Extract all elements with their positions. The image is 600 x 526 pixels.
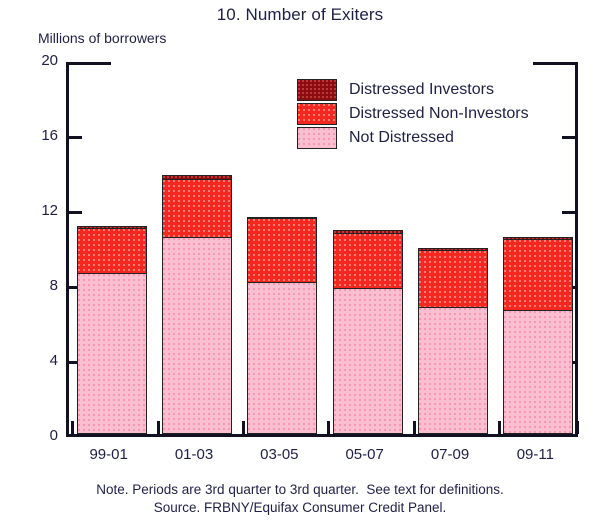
bar-column bbox=[503, 237, 573, 434]
chart-title: 10. Number of Exiters bbox=[0, 5, 600, 25]
x-axis-tick bbox=[576, 421, 579, 434]
footnote-note: Note. Periods are 3rd quarter to 3rd qua… bbox=[0, 481, 600, 499]
x-axis-tick bbox=[71, 421, 74, 434]
bar-segment bbox=[77, 273, 147, 434]
x-axis-tick-label: 09-11 bbox=[495, 446, 575, 463]
x-axis-tick bbox=[157, 421, 160, 434]
legend-item-distressed-investors: Distressed Investors bbox=[297, 78, 529, 102]
x-axis-tick bbox=[498, 421, 501, 434]
bar-segment bbox=[247, 218, 317, 282]
x-axis-tick-label: 07-09 bbox=[410, 446, 490, 463]
bar-segment bbox=[247, 282, 317, 434]
bar-column bbox=[77, 226, 147, 434]
y-axis-tick-label: 4 bbox=[6, 352, 58, 369]
legend-swatch-distressed-non-investors bbox=[297, 103, 337, 125]
x-axis-tick-label: 99-01 bbox=[69, 446, 149, 463]
x-axis-tick-label: 01-03 bbox=[154, 446, 234, 463]
legend-label-not-distressed: Not Distressed bbox=[349, 129, 454, 147]
bar-segment bbox=[503, 310, 573, 434]
x-axis-tick-label: 05-07 bbox=[325, 446, 405, 463]
bar-column bbox=[162, 175, 232, 434]
y-axis-tick-label: 0 bbox=[6, 427, 58, 444]
bar-segment bbox=[162, 237, 232, 434]
bar-segment bbox=[418, 307, 488, 435]
y-axis-tick-label: 8 bbox=[6, 277, 58, 294]
x-axis-tick bbox=[413, 421, 416, 434]
legend-label-distressed-investors: Distressed Investors bbox=[349, 81, 494, 99]
bar-column bbox=[333, 230, 403, 434]
legend-swatch-not-distressed bbox=[297, 127, 337, 149]
legend-label-distressed-non-investors: Distressed Non-Investors bbox=[349, 105, 529, 123]
x-axis-tick bbox=[242, 421, 245, 434]
chart-footnotes: Note. Periods are 3rd quarter to 3rd qua… bbox=[0, 481, 600, 517]
footnote-source: Source. FRBNY/Equifax Consumer Credit Pa… bbox=[0, 499, 600, 517]
bar-segment bbox=[333, 233, 403, 287]
y-axis-tick-label: 16 bbox=[6, 127, 58, 144]
bar-segment bbox=[77, 228, 147, 273]
x-axis-tick bbox=[327, 421, 330, 434]
chart-legend: Distressed Investors Distressed Non-Inve… bbox=[297, 78, 529, 150]
legend-item-not-distressed: Not Distressed bbox=[297, 126, 529, 150]
y-axis-unit-label: Millions of borrowers bbox=[38, 30, 166, 46]
y-axis-tick-label: 20 bbox=[6, 52, 58, 69]
legend-item-distressed-non-investors: Distressed Non-Investors bbox=[297, 102, 529, 126]
bar-segment bbox=[162, 179, 232, 237]
bar-column bbox=[247, 217, 317, 435]
bar-segment bbox=[503, 239, 573, 310]
y-axis-tick-label: 12 bbox=[6, 202, 58, 219]
bar-column bbox=[418, 248, 488, 434]
legend-swatch-distressed-investors bbox=[297, 79, 337, 101]
bar-segment bbox=[333, 288, 403, 434]
bar-segment bbox=[418, 250, 488, 306]
x-axis-tick-label: 03-05 bbox=[239, 446, 319, 463]
